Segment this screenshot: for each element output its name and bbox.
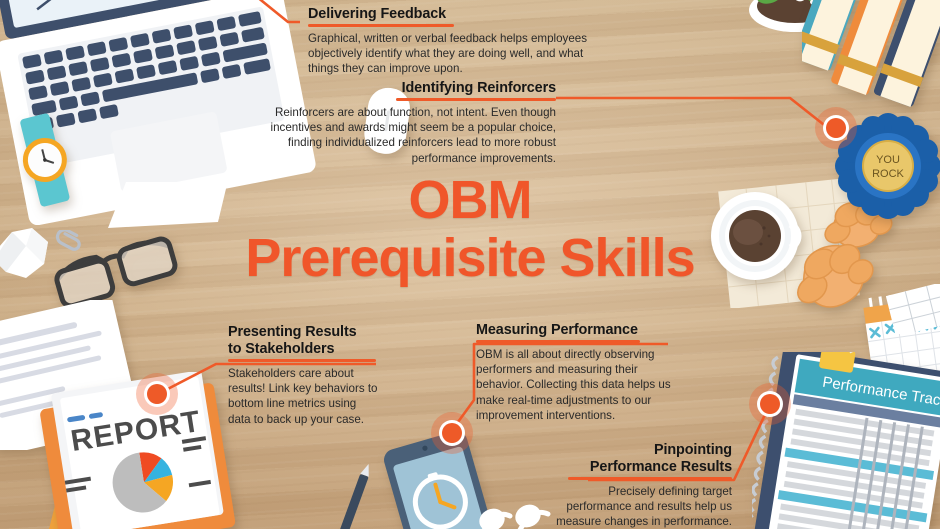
callout-body: Reinforcers are about function, not inte…: [256, 105, 556, 167]
ribbon-text-line1: YOU: [876, 154, 900, 166]
callout-underline: [396, 98, 556, 101]
pen-illustration: [326, 458, 386, 529]
callout-measuring-performance: Measuring Performance OBM is all about d…: [476, 322, 682, 424]
callout-body: OBM is all about directly observing perf…: [476, 347, 682, 424]
marker-measuring-performance[interactable]: [431, 412, 473, 454]
marker-presenting-results[interactable]: [136, 373, 178, 415]
callout-heading: Delivering Feedback: [308, 6, 608, 23]
callout-pinpointing-performance-results: Pinpointing Performance Results Precisel…: [540, 442, 732, 529]
callout-body: Precisely defining target performance an…: [540, 484, 732, 529]
callout-heading-line1: Presenting Results: [228, 324, 388, 341]
marker-identifying-reinforcers[interactable]: [815, 107, 857, 149]
page-title-line1: OBM: [0, 172, 940, 228]
marker-core: [147, 384, 167, 404]
callout-heading-line2: to Stakeholders: [228, 341, 388, 358]
callout-underline: [568, 477, 732, 480]
callout-heading-line2: Performance Results: [540, 459, 732, 476]
callout-delivering-feedback: Delivering Feedback Graphical, written o…: [308, 6, 608, 77]
callout-underline: [308, 24, 454, 27]
callout-body: Stakeholders care about results! Link ke…: [228, 366, 378, 428]
small-note-illustration: [886, 284, 940, 334]
marker-core: [760, 394, 780, 414]
callout-presenting-results: Presenting Results to Stakeholders Stake…: [228, 324, 388, 427]
marker-pinpointing[interactable]: [749, 383, 791, 425]
callout-heading: Measuring Performance: [476, 322, 682, 339]
infographic-canvas: REPORT 00:37:46: [0, 0, 940, 529]
performance-tracker-notebook: Performance Tracker: [752, 352, 940, 529]
callout-heading: Identifying Reinforcers: [256, 80, 556, 97]
marker-core: [442, 423, 462, 443]
page-title: OBM Prerequisite Skills: [0, 172, 940, 288]
books-illustration: [802, 0, 940, 114]
marker-core: [826, 118, 846, 138]
callout-heading-line1: Pinpointing: [540, 442, 732, 459]
page-title-line2: Prerequisite Skills: [0, 228, 940, 288]
callout-body: Graphical, written or verbal feedback he…: [308, 31, 596, 77]
callout-underline: [228, 359, 376, 362]
callout-underline: [476, 340, 640, 343]
callout-identifying-reinforcers: Identifying Reinforcers Reinforcers are …: [256, 80, 556, 166]
